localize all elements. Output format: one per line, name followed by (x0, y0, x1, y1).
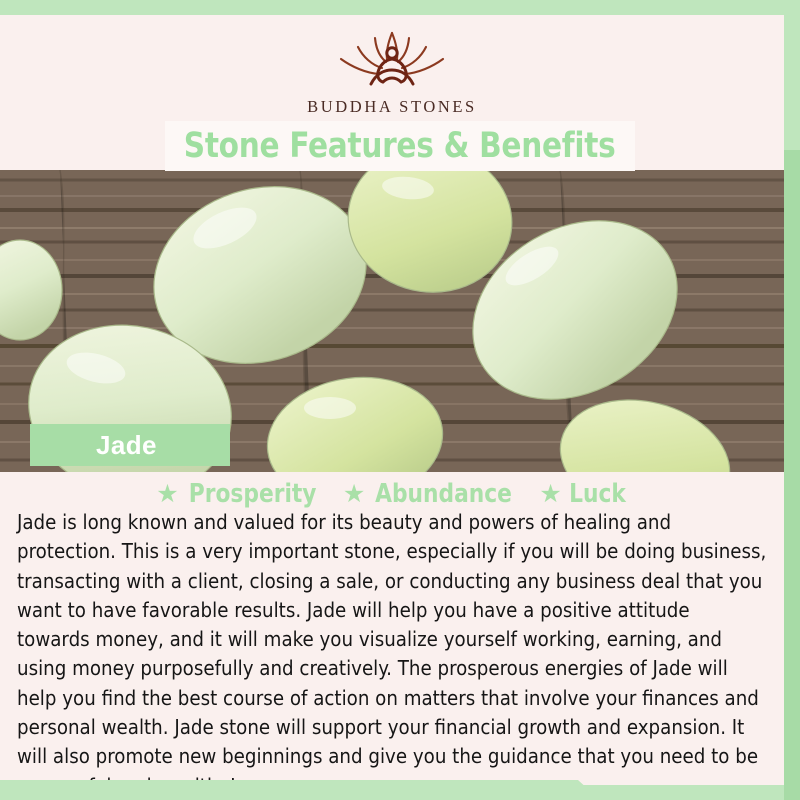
benefit-item: ★ Abundance (343, 479, 518, 509)
stone-name-tab: Jade (30, 424, 230, 466)
benefit-label: Prosperity (188, 479, 316, 509)
benefit-item: ★ Prosperity (156, 479, 321, 509)
stone-name-label: Jade (96, 430, 157, 461)
benefits-row: ★ Prosperity ★ Abundance ★ Luck (0, 478, 784, 510)
benefit-label: Abundance (375, 479, 512, 509)
page-title: Stone Features & Benefits (184, 126, 616, 166)
star-icon: ★ (539, 482, 561, 507)
brand-name: BUDDHA STONES (307, 97, 477, 117)
accent-bar-right (784, 150, 800, 800)
star-icon: ★ (343, 482, 365, 507)
stone-description: Jade is long known and valued for its be… (17, 508, 768, 800)
benefit-item: ★ Luck (539, 479, 627, 509)
lotus-meditation-icon (328, 27, 456, 93)
section-title-banner: Stone Features & Benefits (165, 121, 635, 171)
infographic-page: BUDDHA STONES (0, 0, 800, 800)
benefit-label: Luck (569, 479, 626, 509)
star-icon: ★ (156, 482, 178, 507)
brand-header: BUDDHA STONES (0, 15, 784, 120)
